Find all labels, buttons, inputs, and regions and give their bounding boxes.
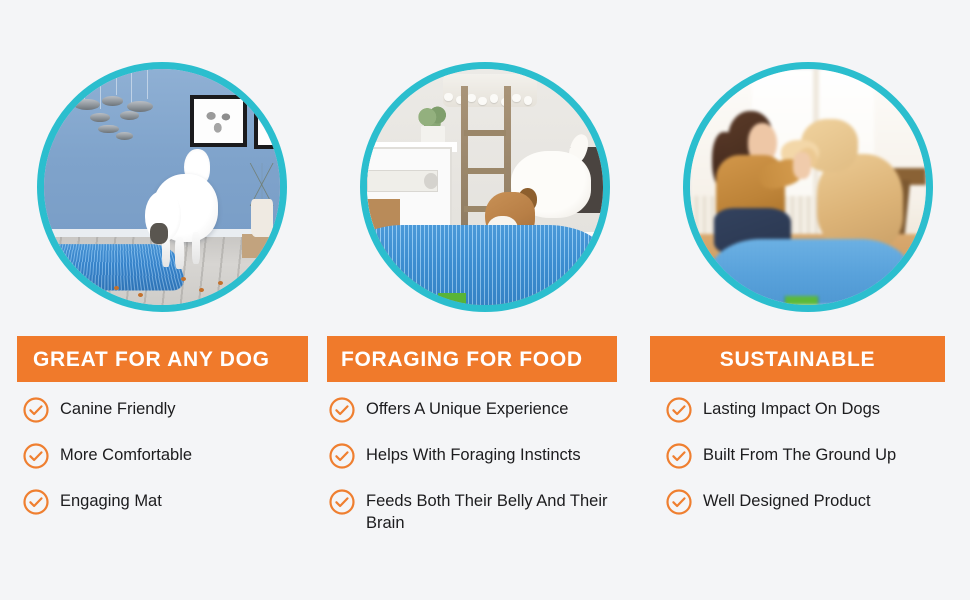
product-feature-infographic: GREAT FOR ANY DOG FORAGING FOR FOOD SUST… xyxy=(0,0,970,600)
check-circle-icon xyxy=(22,442,50,470)
banner-great-for-any-dog: GREAT FOR ANY DOG xyxy=(17,336,308,382)
framed-artwork-small xyxy=(254,107,280,149)
banner-foraging-for-food: FORAGING FOR FOOD xyxy=(327,336,617,382)
scene-woman-high-fiving-golden-retriever xyxy=(690,69,926,305)
check-circle-icon xyxy=(665,442,693,470)
check-circle-icon xyxy=(328,442,356,470)
check-circle-icon xyxy=(665,396,693,424)
pom-pom-garland xyxy=(443,74,537,107)
product-photo-foraging-for-food xyxy=(360,62,610,312)
list-item: Offers A Unique Experience xyxy=(328,396,628,424)
feature-list-foraging-for-food: Offers A Unique Experience Helps With Fo… xyxy=(328,396,628,552)
check-circle-icon xyxy=(22,396,50,424)
feature-list-sustainable: Lasting Impact On Dogs Built From The Gr… xyxy=(665,396,955,534)
check-circle-icon xyxy=(328,396,356,424)
banner-title: SUSTAINABLE xyxy=(720,349,875,370)
vase xyxy=(251,199,272,237)
list-item: Built From The Ground Up xyxy=(665,442,955,470)
woman xyxy=(714,111,813,257)
blue-snuffle-mat xyxy=(367,225,603,305)
feature-label: More Comfortable xyxy=(60,442,192,466)
list-item: Canine Friendly xyxy=(22,396,312,424)
product-photo-sustainable xyxy=(683,62,933,312)
list-item: Well Designed Product xyxy=(665,488,955,516)
list-item: Helps With Foraging Instincts xyxy=(328,442,628,470)
feature-label: Feeds Both Their Belly And Their Brain xyxy=(366,488,628,534)
check-circle-icon xyxy=(22,488,50,516)
feature-label: Canine Friendly xyxy=(60,396,176,420)
framed-artwork-large xyxy=(190,95,247,147)
list-item: Lasting Impact On Dogs xyxy=(665,396,955,424)
banner-sustainable: SUSTAINABLE xyxy=(650,336,945,382)
samoyed-dog xyxy=(145,154,221,277)
feature-label: Well Designed Product xyxy=(703,488,871,512)
product-tag xyxy=(438,293,466,305)
product-tag xyxy=(785,296,818,305)
list-item: Engaging Mat xyxy=(22,488,312,516)
feature-label: Engaging Mat xyxy=(60,488,162,512)
check-circle-icon xyxy=(665,488,693,516)
banner-title: GREAT FOR ANY DOG xyxy=(33,349,270,370)
product-photo-great-for-any-dog xyxy=(37,62,287,312)
feature-label: Lasting Impact On Dogs xyxy=(703,396,880,420)
check-circle-icon xyxy=(328,488,356,516)
list-item: Feeds Both Their Belly And Their Brain xyxy=(328,488,628,534)
banner-title: FORAGING FOR FOOD xyxy=(341,349,583,370)
scene-samoyed-on-snuffle-mat xyxy=(44,69,280,305)
side-table xyxy=(242,234,280,258)
feature-label: Built From The Ground Up xyxy=(703,442,896,466)
list-item: More Comfortable xyxy=(22,442,312,470)
feature-label: Helps With Foraging Instincts xyxy=(366,442,581,466)
feature-list-great-for-any-dog: Canine Friendly More Comfortable Engagin… xyxy=(22,396,312,534)
scene-terrier-on-snuffle-mat xyxy=(367,69,603,305)
feature-label: Offers A Unique Experience xyxy=(366,396,568,420)
